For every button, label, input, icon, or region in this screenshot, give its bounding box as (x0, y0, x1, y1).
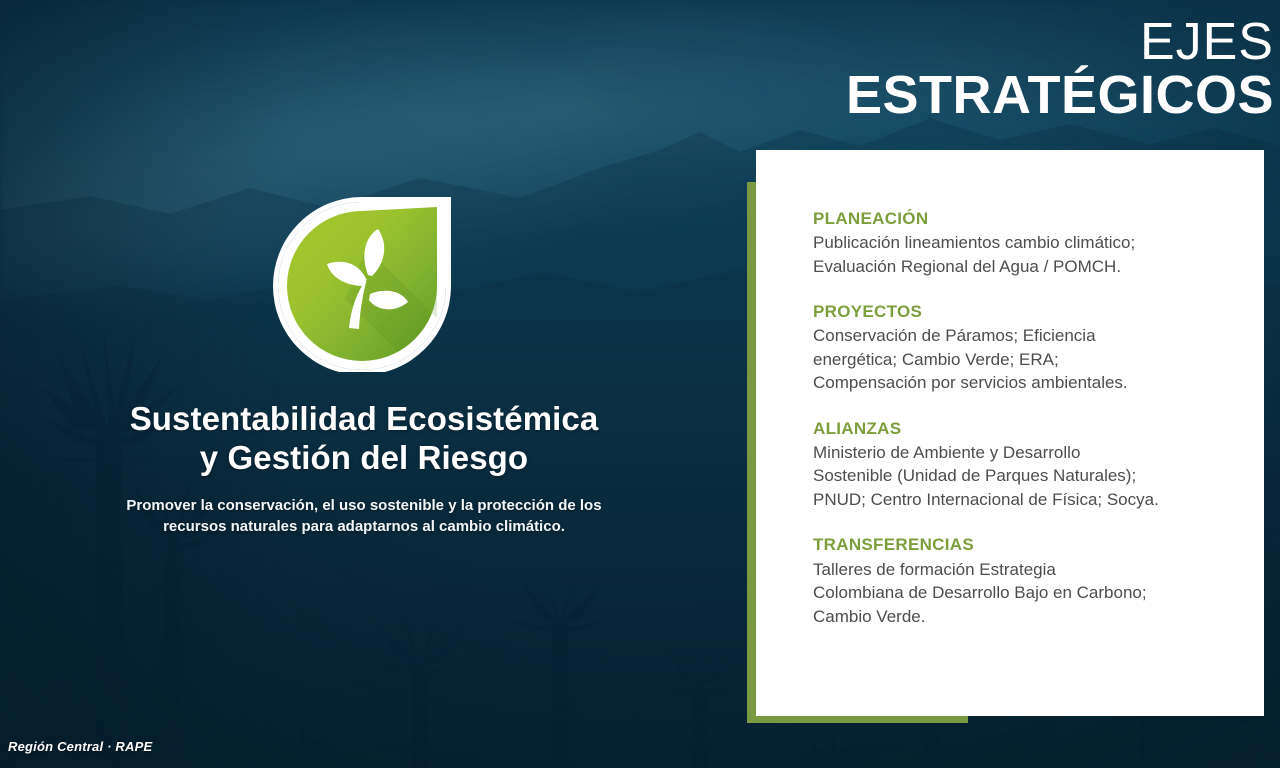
section-heading: PROYECTOS (813, 301, 1240, 322)
card-section: TRANSFERENCIAS Talleres de formación Est… (813, 534, 1240, 628)
card-section: PROYECTOS Conservación de Páramos; Efici… (813, 301, 1240, 395)
section-body: Ministerio de Ambiente y Desarrollo Sost… (813, 441, 1240, 511)
page-title: EJES ESTRATÉGICOS (846, 18, 1274, 122)
slide-root: EJES ESTRATÉGICOS (0, 0, 1280, 768)
section-heading: ALIANZAS (813, 418, 1240, 439)
left-panel: Sustentabilidad Ecosistémica y Gestión d… (0, 190, 728, 537)
card-section: PLANEACIÓN Publicación lineamientos camb… (813, 208, 1240, 278)
leaf-sprout-logo-svg (271, 190, 453, 372)
card-section: ALIANZAS Ministerio de Ambiente y Desarr… (813, 418, 1240, 512)
section-body: Conservación de Páramos; Eficiencia ener… (813, 324, 1240, 394)
page-title-line-2: ESTRATÉGICOS (846, 70, 1274, 122)
card-content: PLANEACIÓN Publicación lineamientos camb… (813, 208, 1240, 628)
section-heading: TRANSFERENCIAS (813, 534, 1240, 555)
page-title-line-1: EJES (846, 18, 1274, 68)
footer-brand: Región Central · RAPE (8, 739, 152, 754)
leaf-sprout-logo-icon (271, 190, 453, 372)
strategic-axes-card: PLANEACIÓN Publicación lineamientos camb… (756, 150, 1264, 716)
left-panel-title: Sustentabilidad Ecosistémica y Gestión d… (0, 400, 728, 478)
section-heading: PLANEACIÓN (813, 208, 1240, 229)
section-body: Publicación lineamientos cambio climátic… (813, 231, 1240, 278)
section-body: Talleres de formación Estrategia Colombi… (813, 558, 1240, 628)
left-panel-title-line-1: Sustentabilidad Ecosistémica (130, 400, 599, 437)
left-panel-title-line-2: y Gestión del Riesgo (200, 439, 528, 476)
left-panel-subtitle: Promover la conservación, el uso sosteni… (0, 495, 728, 538)
